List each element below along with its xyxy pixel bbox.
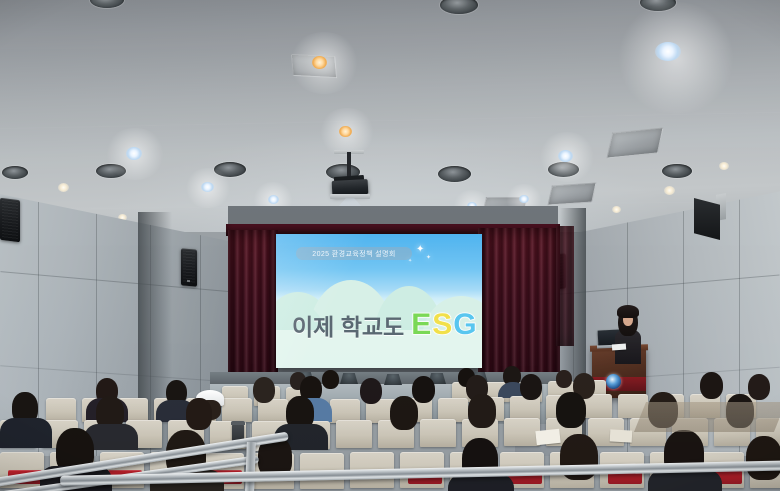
- audience-head: [748, 374, 770, 400]
- paper-handout: [535, 429, 560, 445]
- ceiling-light-lit: [58, 183, 69, 192]
- slide-title-korean: 이제 학교도: [292, 308, 404, 342]
- esg-letter-e: E: [411, 308, 431, 342]
- recessed-light-unlit: [2, 166, 28, 179]
- ceiling-light-lit: [558, 150, 573, 162]
- seat: [46, 398, 76, 422]
- ceiling-light-lit: [655, 42, 681, 61]
- wall-panel-seam: [38, 190, 39, 456]
- booklet: [610, 429, 633, 442]
- aisle-floor: [634, 402, 780, 432]
- stage-curtain-right: [478, 228, 560, 388]
- audience-head: [360, 378, 382, 404]
- ceiling-light-lit: [201, 182, 214, 192]
- audience-head: [253, 377, 275, 403]
- ceiling-light-lit: [519, 195, 529, 203]
- seat: [510, 396, 540, 420]
- tumbler-lid: [231, 421, 245, 425]
- speaker-grill: [2, 200, 18, 240]
- presenter-hair-front: [617, 305, 639, 318]
- audience-head: [556, 392, 586, 428]
- audience-head: [746, 436, 780, 480]
- wall-speaker: [181, 248, 197, 286]
- wall-speaker: [694, 198, 720, 240]
- esg-letter-s: S: [432, 308, 452, 342]
- wall-speaker: [0, 198, 20, 242]
- ceiling-light-lit: [312, 56, 327, 69]
- ceiling-light-lit: [664, 186, 675, 195]
- presenter-notes: [612, 344, 626, 351]
- audience-head: [556, 370, 572, 388]
- recessed-light-unlit: [90, 0, 124, 8]
- audience-head: [390, 396, 418, 430]
- slide-content: 2025 환경교육정책 설명회 ✦ ✦ ✦ 이제 학교도 E S G: [276, 234, 482, 368]
- slide-title: 이제 학교도 E S G: [292, 308, 477, 342]
- sparkle-icon: ✦: [426, 254, 431, 261]
- ceiling-light-lit: [126, 147, 142, 160]
- projector-base-plate: [330, 194, 370, 199]
- recessed-light-unlit: [96, 164, 126, 178]
- podium-emblem: [606, 374, 621, 389]
- recessed-light-unlit: [440, 0, 478, 14]
- slide-banner-text: 2025 환경교육정책 설명회: [312, 249, 395, 259]
- recessed-light-unlit: [548, 162, 579, 177]
- audience-head: [700, 372, 723, 399]
- audience-head: [520, 374, 542, 400]
- sparkle-icon: ✦: [416, 244, 424, 255]
- ceiling-light-lit: [612, 206, 621, 213]
- recessed-light-unlit: [662, 164, 692, 178]
- stage-curtain-far-right: [556, 226, 574, 346]
- projection-screen: 2025 환경교육정책 설명회 ✦ ✦ ✦ 이제 학교도 E S G: [276, 234, 482, 368]
- ceiling-light-lit: [339, 126, 352, 137]
- recessed-light-unlit: [214, 162, 246, 177]
- recessed-light-unlit: [438, 166, 471, 182]
- audience-head: [468, 394, 496, 428]
- recessed-light-unlit: [640, 0, 676, 11]
- projector-pole: [347, 152, 351, 178]
- esg-acronym: E S G: [411, 308, 476, 342]
- ceiling: [0, 0, 780, 232]
- slide-banner: 2025 환경교육정책 설명회: [296, 247, 412, 260]
- stage-curtain-left: [228, 230, 278, 386]
- audience-shoulders: [0, 418, 52, 448]
- seat: [222, 398, 252, 422]
- ceiling-light-lit: [719, 162, 729, 170]
- sparkle-icon: ✦: [408, 258, 412, 264]
- audience-head: [412, 376, 435, 403]
- seat: [420, 419, 456, 447]
- esg-letter-g: G: [453, 308, 476, 342]
- speaker-led: [187, 280, 190, 282]
- auditorium-photo: 2025 환경교육정책 설명회 ✦ ✦ ✦ 이제 학교도 E S G: [0, 0, 780, 491]
- hvac-vent: [606, 127, 663, 158]
- seat: [336, 420, 372, 448]
- audience-head: [322, 370, 339, 389]
- hvac-vent: [547, 182, 596, 205]
- ceiling-light-lit: [268, 195, 279, 204]
- audience-head: [186, 398, 212, 430]
- handrail-post: [245, 442, 256, 491]
